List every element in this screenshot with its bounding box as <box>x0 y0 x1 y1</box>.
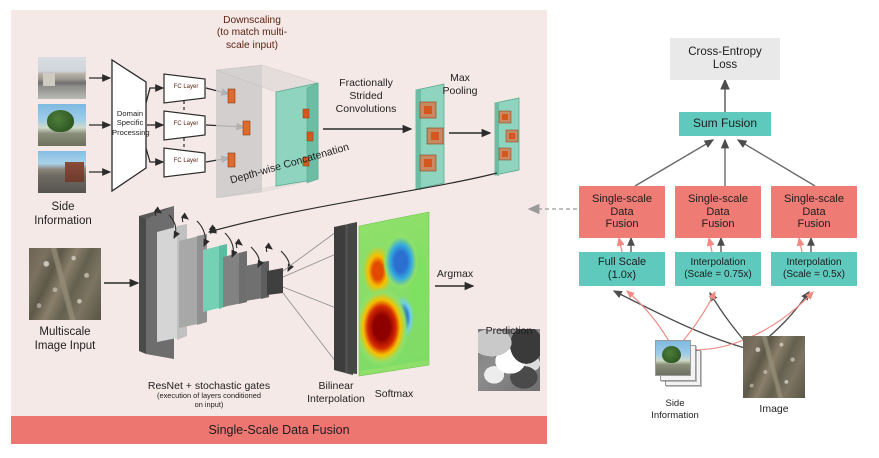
softmax-label: Softmax <box>361 388 427 401</box>
single-scale-data-fusion-banner: Single-Scale Data Fusion <box>11 416 547 444</box>
single-scale-data-fusion-label-3: Single-scale Data Fusion <box>784 193 844 231</box>
prediction-label: Prediction <box>473 325 545 338</box>
sum-fusion-box: Sum Fusion <box>679 112 771 136</box>
image-thumb <box>743 336 805 398</box>
scale-box-05-label: Interpolation (Scale = 0.5x) <box>783 257 845 280</box>
cross-entropy-loss-label: Cross-Entropy Loss <box>688 46 762 73</box>
side-information-thumb <box>655 340 691 376</box>
single-scale-data-fusion-box-2: Single-scale Data Fusion <box>675 186 761 238</box>
resnet-stage-svg <box>11 10 547 444</box>
image-label-right: Image <box>739 403 809 416</box>
scale-box-075-label: Interpolation (Scale = 0.75x) <box>684 257 752 280</box>
single-scale-data-fusion-label-1: Single-scale Data Fusion <box>592 193 652 231</box>
cross-entropy-loss-box: Cross-Entropy Loss <box>670 38 780 80</box>
prediction-thumb <box>478 329 540 391</box>
single-scale-data-fusion-box-3: Single-scale Data Fusion <box>771 186 857 238</box>
resnet-sublabel: (execution of layers conditioned on inpu… <box>119 392 299 409</box>
sum-fusion-label: Sum Fusion <box>693 117 757 131</box>
scale-box-075: Interpolation (Scale = 0.75x) <box>675 252 761 286</box>
scale-box-full: Full Scale (1.0x) <box>579 252 665 286</box>
side-information-stack <box>655 340 707 392</box>
figure-root: Side Information <box>0 0 879 458</box>
banner-label: Single-Scale Data Fusion <box>208 423 349 437</box>
side-information-label-right: Side Information <box>635 398 715 421</box>
argmax-label: Argmax <box>431 268 479 281</box>
softmax-heatmap <box>360 215 428 371</box>
right-panel: Cross-Entropy Loss Sum Fusion Single-sca… <box>547 0 879 458</box>
scale-box-full-label: Full Scale (1.0x) <box>598 256 646 282</box>
left-panel: Side Information <box>11 10 547 444</box>
single-scale-data-fusion-box-1: Single-scale Data Fusion <box>579 186 665 238</box>
scale-box-05: Interpolation (Scale = 0.5x) <box>771 252 857 286</box>
single-scale-data-fusion-label-2: Single-scale Data Fusion <box>688 193 748 231</box>
